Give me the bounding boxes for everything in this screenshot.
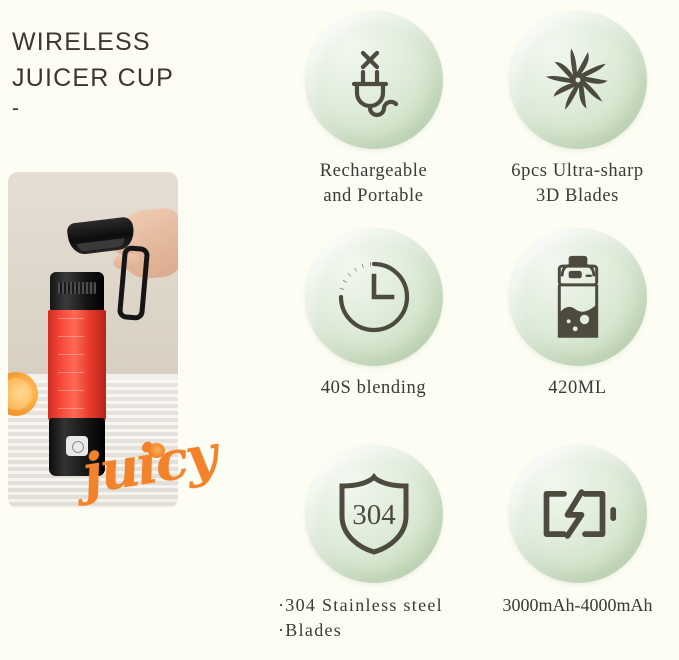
product-infographic: WIRELESS JUICER CUP - juicy bbox=[0, 0, 679, 660]
page-title: WIRELESS JUICER CUP - bbox=[12, 24, 262, 122]
clock-icon bbox=[305, 228, 443, 366]
shield-badge-text: 304 bbox=[352, 499, 396, 531]
battery-charging-icon bbox=[509, 445, 647, 583]
title-line-2: JUICER CUP bbox=[12, 60, 262, 96]
feature-caption: 40S blending bbox=[272, 376, 475, 401]
feature-caption: 420ML bbox=[476, 376, 679, 401]
feature-item-blades: 6pcs Ultra-sharp 3D Blades bbox=[476, 11, 679, 209]
feature-item-battery: 3000mAh-4000mAh bbox=[476, 445, 679, 618]
feature-item-blending-time: 40S blending bbox=[272, 228, 475, 401]
feature-item-rechargeable: Rechargeable and Portable bbox=[272, 11, 475, 209]
feature-caption: Rechargeable and Portable bbox=[272, 159, 475, 209]
bottle-blade-housing bbox=[50, 272, 104, 312]
feature-grid: Rechargeable and Portable bbox=[272, 0, 679, 660]
feature-caption: 6pcs Ultra-sharp 3D Blades bbox=[476, 159, 679, 209]
title-line-1: WIRELESS bbox=[12, 24, 262, 60]
no-plug-icon bbox=[305, 11, 443, 149]
blades-icon bbox=[509, 11, 647, 149]
shield-304-icon: 304 bbox=[305, 445, 443, 583]
feature-item-capacity: 420ML bbox=[476, 228, 679, 401]
bottle-juice-jar bbox=[48, 310, 106, 420]
bottle-icon bbox=[509, 228, 647, 366]
feature-item-stainless-steel: 304 ·304 Stainless steel ·Blades bbox=[272, 445, 475, 643]
title-dash: - bbox=[12, 96, 262, 122]
feature-caption: ·304 Stainless steel ·Blades bbox=[272, 593, 475, 643]
orange-slice-dot-icon bbox=[148, 443, 165, 458]
feature-caption: 3000mAh-4000mAh bbox=[476, 593, 679, 618]
